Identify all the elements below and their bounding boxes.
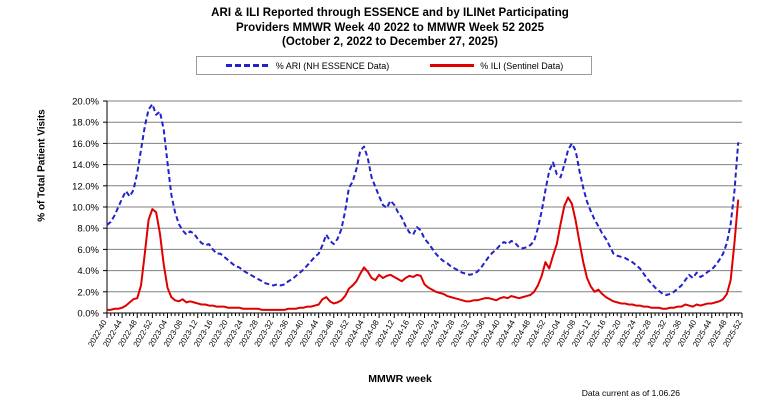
chart-container: ARI & ILI Reported through ESSENCE and b… [0, 0, 780, 406]
y-axis-tick-label: 12.0% [72, 181, 99, 192]
grid-lines [107, 101, 742, 292]
x-axis-ticks [107, 313, 742, 318]
y-axis-tick-label: 14.0% [72, 160, 99, 171]
y-axis-ticks [103, 101, 107, 313]
data-current-footnote: Data current as of 1.06.26 [420, 388, 680, 398]
y-axis-tick-label: 20.0% [72, 97, 99, 108]
y-axis-tick-label: 4.0% [77, 266, 99, 277]
y-axis-tick-label: 8.0% [77, 224, 99, 235]
y-axis-tick-label: 2.0% [77, 287, 99, 298]
series-line-ili [107, 197, 738, 309]
y-axis-tick-label: 10.0% [72, 203, 99, 214]
x-axis-tick-labels: 2022-402022-442022-482022-522023-042023-… [86, 318, 744, 348]
y-axis-tick-label: 18.0% [72, 118, 99, 129]
y-axis-tick-label: 16.0% [72, 139, 99, 150]
x-axis-title: MMWR week [260, 373, 540, 385]
y-axis-tick-label: 6.0% [77, 245, 99, 256]
y-axis-tick-labels: 0.0%2.0%4.0%6.0%8.0%10.0%12.0%14.0%16.0%… [72, 97, 99, 320]
series-line-ari [107, 104, 738, 295]
y-axis-tick-label: 0.0% [77, 309, 99, 320]
plot-area: 0.0%2.0%4.0%6.0%8.0%10.0%12.0%14.0%16.0%… [0, 0, 780, 380]
